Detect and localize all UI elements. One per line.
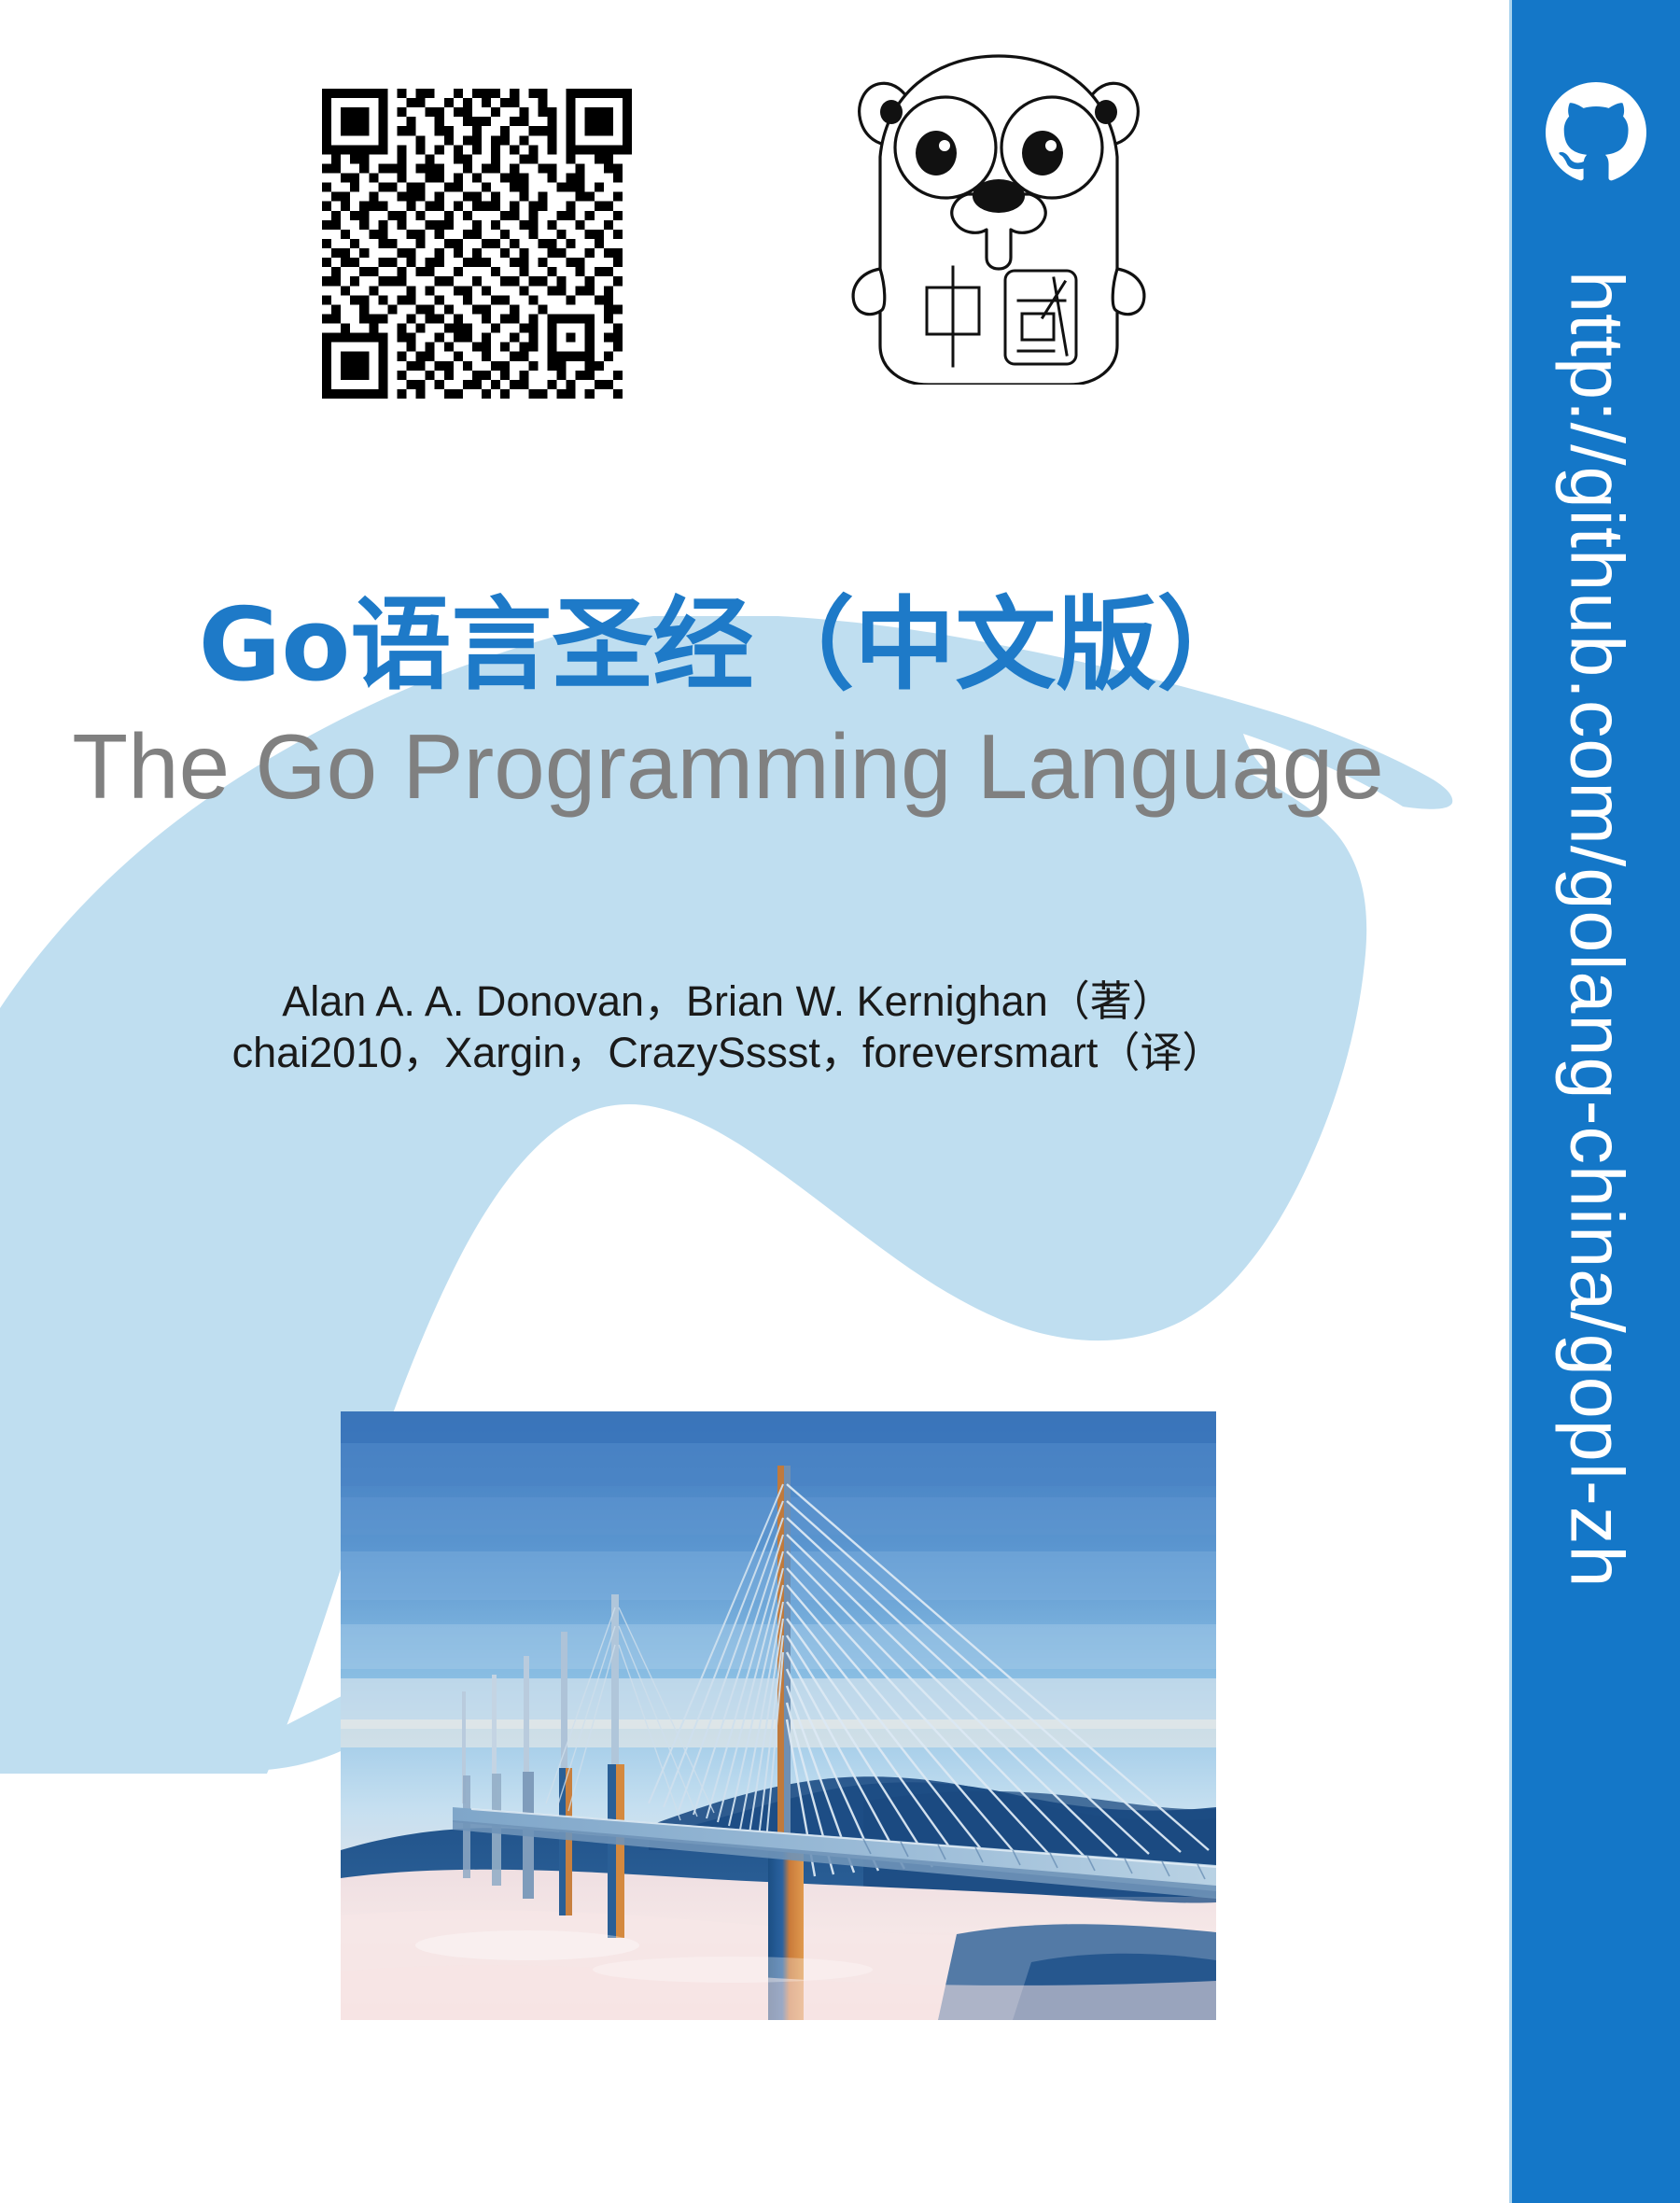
authors-line: Alan A. A. Donovan，Brian W. Kernighan（著） xyxy=(0,976,1456,1028)
go-gopher-icon: 中國 xyxy=(845,37,1153,385)
github-octocat-icon[interactable] xyxy=(1546,82,1646,183)
qr-code[interactable] xyxy=(322,89,632,399)
millau-viaduct-photo xyxy=(341,1411,1216,2020)
github-url-text[interactable]: http://github.com/golang-china/gopl-zh xyxy=(1553,271,1640,1588)
book-cover: 中國 Go语言圣经（中文版） The Go Programming Langua… xyxy=(0,0,1680,2203)
credits-block: Alan A. A. Donovan，Brian W. Kernighan（著）… xyxy=(0,976,1456,1079)
github-spine-bar: http://github.com/golang-china/gopl-zh xyxy=(1509,0,1680,2203)
translators-line: chai2010，Xargin，CrazySssst，foreversmart（… xyxy=(0,1028,1456,1079)
page-title-english: The Go Programming Language xyxy=(0,717,1456,818)
page-title-chinese: Go语言圣经（中文版） xyxy=(0,596,1456,696)
